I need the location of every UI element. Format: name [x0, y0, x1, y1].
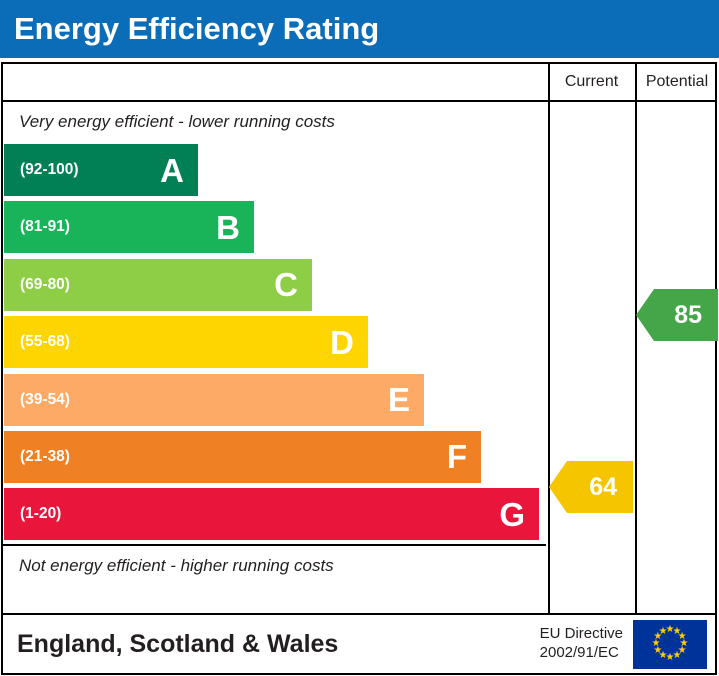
bar-range-label: (21-38) [20, 448, 70, 466]
bar-row: (92-100) A [4, 142, 547, 199]
column-header-potential: Potential [635, 73, 719, 91]
bar-c: (69-80) C [4, 259, 312, 311]
rating-bars: (92-100) A (81-91) B (69-80) C (55-68) [4, 142, 547, 544]
bar-range-label: (92-100) [20, 161, 79, 179]
bar-range-label: (1-20) [20, 505, 61, 523]
bar-range-label: (69-80) [20, 276, 70, 294]
bar-g: (1-20) G [4, 488, 539, 540]
potential-rating-value: 85 [674, 301, 702, 330]
chart-frame: Current Potential Very energy efficient … [1, 62, 717, 615]
column-divider-current [548, 64, 550, 613]
bar-letter-label: C [274, 268, 302, 301]
eu-star-icon: ★ [658, 627, 668, 637]
bar-letter-label: E [388, 383, 414, 416]
eu-directive-line2: 2002/91/EC [540, 644, 623, 663]
page-title: Energy Efficiency Rating [0, 11, 379, 47]
bar-row: (55-68) D [4, 314, 547, 371]
bar-letter-label: A [160, 154, 188, 187]
column-divider-potential [635, 64, 637, 613]
bar-letter-label: B [216, 211, 244, 244]
bar-range-label: (39-54) [20, 391, 70, 409]
bar-letter-label: D [330, 326, 358, 359]
caption-top: Very energy efficient - lower running co… [3, 102, 546, 142]
bar-row: (1-20) G [4, 486, 547, 543]
bar-d: (55-68) D [4, 316, 368, 368]
potential-rating-marker: 85 [636, 289, 718, 341]
region-label: England, Scotland & Wales [3, 630, 540, 659]
caption-bottom: Not energy efficient - higher running co… [3, 544, 546, 585]
eu-flag-icon: ★★★★★★★★★★★★ [633, 620, 707, 669]
eu-directive-line1: EU Directive [540, 625, 623, 644]
bar-f: (21-38) F [4, 431, 481, 483]
current-rating-marker: 64 [549, 461, 633, 513]
bar-b: (81-91) B [4, 201, 254, 253]
eu-directive-text: EU Directive 2002/91/EC [540, 625, 633, 663]
chart-title-bar: Energy Efficiency Rating [0, 0, 719, 58]
epc-energy-efficiency-chart: Energy Efficiency Rating Current Potenti… [0, 0, 719, 676]
chart-footer: England, Scotland & Wales EU Directive 2… [1, 615, 717, 675]
bar-letter-label: F [447, 440, 471, 473]
bar-row: (21-38) F [4, 429, 547, 486]
bar-row: (81-91) B [4, 199, 547, 256]
bar-letter-label: G [499, 498, 529, 531]
bar-range-label: (81-91) [20, 218, 70, 236]
bar-a: (92-100) A [4, 144, 198, 196]
bar-row: (39-54) E [4, 372, 547, 429]
bar-e: (39-54) E [4, 374, 424, 426]
current-rating-value: 64 [589, 473, 617, 502]
bar-range-label: (55-68) [20, 333, 70, 351]
column-header-current: Current [548, 73, 635, 91]
bar-row: (69-80) C [4, 257, 547, 314]
